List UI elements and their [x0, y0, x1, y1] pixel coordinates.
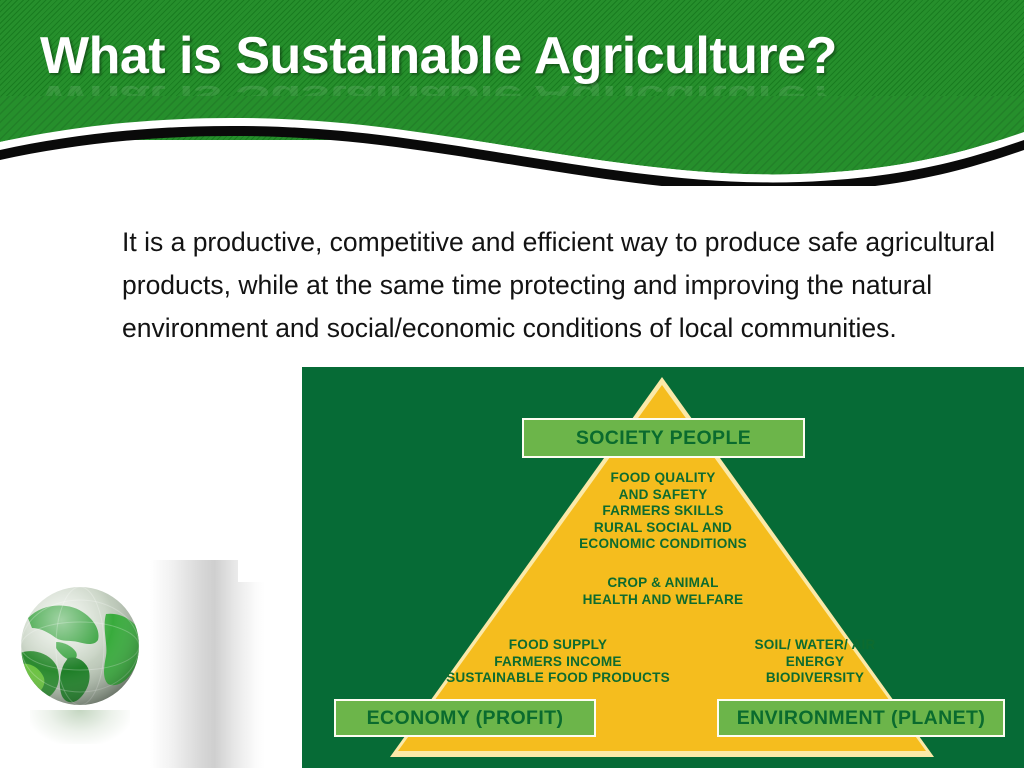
- label-environment-planet[interactable]: ENVIRONMENT (PLANET): [717, 699, 1005, 737]
- wave-divider: [0, 96, 1024, 186]
- label-economy-profit[interactable]: ECONOMY (PROFIT): [334, 699, 596, 737]
- sustainability-pyramid-diagram: SOCIETY PEOPLE FOOD QUALITY AND SAFETY F…: [302, 367, 1024, 768]
- globe-reflection: [30, 710, 130, 744]
- backdrop-column: [150, 560, 265, 768]
- globe-artwork: [0, 560, 300, 768]
- pyramid-text-environment: SOIL/ WATER/ AIR ENERGY BIODIVERSITY: [697, 637, 933, 687]
- green-globe-icon: [18, 584, 142, 708]
- pyramid-text-economy: FOOD SUPPLY FARMERS INCOME SUSTAINABLE F…: [430, 637, 686, 687]
- label-society-people[interactable]: SOCIETY PEOPLE: [522, 418, 805, 458]
- body-paragraph: It is a productive, competitive and effi…: [122, 221, 1002, 350]
- page-title: What is Sustainable Agriculture?: [40, 26, 837, 86]
- backdrop-column-highlight: [238, 560, 264, 582]
- pyramid-text-crop-animal: CROP & ANIMAL HEALTH AND WELFARE: [533, 575, 793, 608]
- pyramid-text-society: FOOD QUALITY AND SAFETY FARMERS SKILLS R…: [533, 470, 793, 553]
